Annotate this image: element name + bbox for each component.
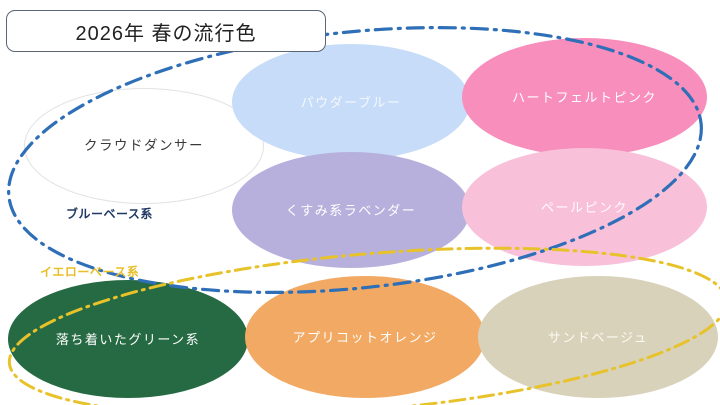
swatch-label-sand-beige: サンドベージュ — [548, 331, 648, 344]
group-caption-blue-base: ブルーベース系 — [66, 205, 153, 222]
swatch-label-apricot-orange: アプリコットオレンジ — [292, 331, 437, 344]
swatch-label-calm-green: 落ち着いたグリーン系 — [56, 333, 200, 346]
page-title: 2026年 春の流行色 — [75, 17, 256, 46]
group-caption-yellow-base: イエローベース系 — [40, 263, 139, 280]
swatch-label-heartfelt-pink: ハートフェルトピンク — [512, 91, 657, 104]
swatch-ellipse-pale-pink[interactable]: ペールピンク — [462, 148, 707, 266]
swatch-ellipse-dusty-lavender[interactable]: くすみ系ラベンダー — [232, 152, 470, 268]
swatch-ellipse-cloud-dancer[interactable]: クラウドダンサー — [24, 88, 264, 204]
title-box[interactable]: 2026年 春の流行色 — [6, 10, 326, 52]
slide-canvas: クラウドダンサー パウダーブルー ハートフェルトピンク くすみ系ラベンダー ペー… — [0, 0, 720, 405]
swatch-label-cloud-dancer: クラウドダンサー — [84, 139, 204, 153]
swatch-ellipse-sand-beige[interactable]: サンドベージュ — [478, 276, 718, 398]
swatch-label-powder-blue: パウダーブルー — [301, 96, 402, 109]
swatch-ellipse-apricot-orange[interactable]: アプリコットオレンジ — [245, 276, 485, 398]
swatch-ellipse-powder-blue[interactable]: パウダーブルー — [232, 44, 470, 160]
swatch-ellipse-calm-green[interactable]: 落ち着いたグリーン系 — [8, 280, 248, 398]
swatch-label-pale-pink: ペールピンク — [541, 201, 628, 214]
swatch-label-dusty-lavender: くすみ系ラベンダー — [286, 204, 417, 217]
swatch-ellipse-heartfelt-pink[interactable]: ハートフェルトピンク — [462, 38, 707, 156]
